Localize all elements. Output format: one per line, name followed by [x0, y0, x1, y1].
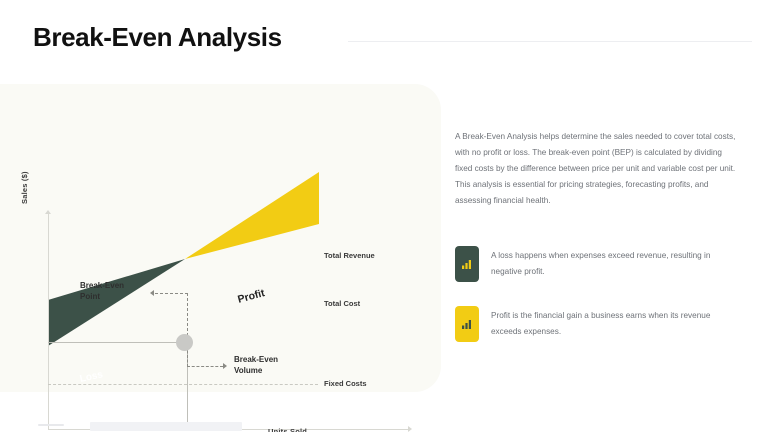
break-even-point-callout: Break-Even Point — [80, 281, 124, 303]
chart-panel: Sales ($) Units Sold Fixed Costs Total R… — [0, 84, 441, 392]
bar-chart-icon — [455, 306, 479, 342]
footer-placeholder-bar — [90, 422, 242, 431]
info-card-loss-text: A loss happens when expenses exceed reve… — [491, 248, 729, 280]
y-axis-label: Sales ($) — [20, 171, 29, 204]
x-axis-arrow-icon — [408, 426, 412, 432]
total-revenue-label: Total Revenue — [324, 251, 375, 260]
profit-wedge — [185, 172, 319, 259]
x-axis-label: Units Sold — [268, 427, 307, 432]
break-even-chart: Sales ($) Units Sold Fixed Costs Total R… — [0, 84, 441, 392]
page-title: Break-Even Analysis — [33, 22, 282, 53]
fixed-costs-label: Fixed Costs — [324, 379, 367, 388]
break-even-point-arrow-icon — [150, 290, 154, 296]
break-even-volume-callout-line1: Break-Even — [234, 355, 278, 366]
break-even-volume-arrow-icon — [223, 363, 227, 369]
bar-chart-icon — [455, 246, 479, 282]
chart-wedges — [0, 84, 441, 392]
break-even-volume-callout-line2: Volume — [234, 366, 278, 377]
break-even-point-callout-line2: Point — [80, 292, 124, 303]
info-card-profit-text: Profit is the financial gain a business … — [491, 308, 729, 340]
fixed-costs-line — [48, 384, 318, 385]
header-divider — [348, 41, 752, 42]
total-cost-label: Total Cost — [324, 299, 360, 308]
y-axis — [48, 212, 49, 430]
break-even-volume-callout: Break-Even Volume — [234, 355, 278, 377]
break-even-point-marker — [176, 334, 193, 351]
info-card-loss: A loss happens when expenses exceed reve… — [455, 240, 739, 288]
info-card-profit: Profit is the financial gain a business … — [455, 300, 739, 348]
break-even-point-callout-line1: Break-Even — [80, 281, 124, 292]
footer-placeholder-line — [38, 424, 64, 426]
break-even-point-leader-horizontal — [155, 293, 188, 294]
slide-root: Break-Even Analysis Sales ($) Units Sold… — [0, 0, 768, 432]
total-cost-intercept-line — [48, 342, 184, 343]
break-even-volume-leader-horizontal — [187, 366, 223, 367]
description-paragraph: A Break-Even Analysis helps determine th… — [455, 129, 737, 209]
